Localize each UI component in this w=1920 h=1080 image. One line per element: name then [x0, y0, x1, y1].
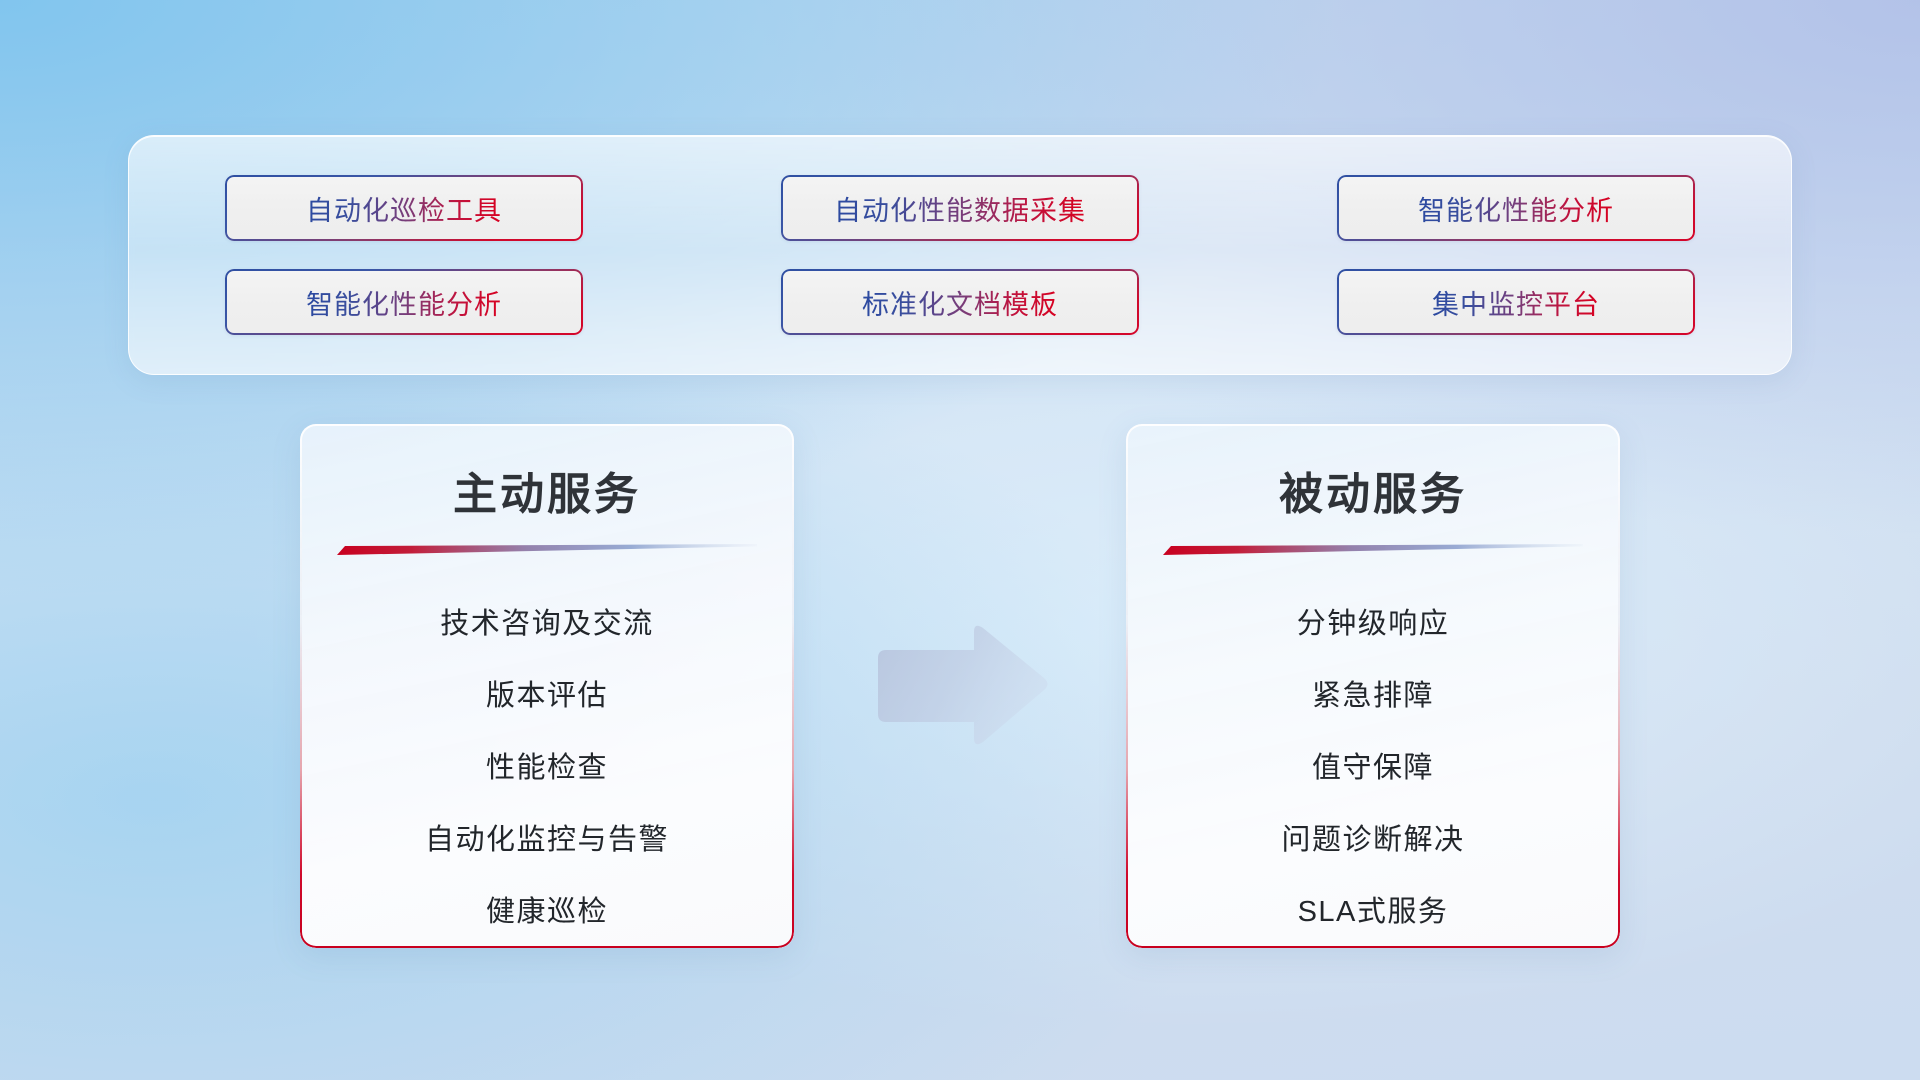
capability-row-1: 自动化巡检工具 自动化性能数据采集 智能化性能分析 [225, 175, 1695, 241]
list-item[interactable]: 技术咨询及交流 [300, 585, 794, 657]
slide-canvas: 自动化巡检工具 自动化性能数据采集 智能化性能分析 智能化性能分析 标准化文档模… [0, 0, 1920, 1080]
capability-pill[interactable]: 智能化性能分析 [1337, 175, 1695, 241]
capability-pill[interactable]: 集中监控平台 [1337, 269, 1695, 335]
list-item[interactable]: 版本评估 [300, 657, 794, 729]
capability-row-2: 智能化性能分析 标准化文档模板 集中监控平台 [225, 269, 1695, 335]
list-item[interactable]: 健康巡检 [300, 873, 794, 945]
list-item[interactable]: 分钟级响应 [1126, 585, 1620, 657]
capability-pill-label: 自动化巡检工具 [306, 189, 502, 228]
capability-pill-label: 自动化性能数据采集 [834, 189, 1086, 228]
list-item[interactable]: 紧急排障 [1126, 657, 1620, 729]
card-title: 被动服务 [1126, 458, 1620, 522]
flow-arrow-container [794, 424, 1126, 948]
service-cards: 主动服务 技术咨询及交流 [0, 424, 1920, 948]
arrow-right-icon [870, 622, 1050, 750]
card-title-underline [1163, 544, 1583, 555]
capability-pill[interactable]: 自动化巡检工具 [225, 175, 583, 241]
card-item-list: 分钟级响应 紧急排障 值守保障 问题诊断解决 SLA式服务 [1126, 585, 1620, 945]
card-item-list: 技术咨询及交流 版本评估 性能检查 自动化监控与告警 健康巡检 [300, 585, 794, 945]
card-title: 主动服务 [300, 458, 794, 522]
service-card-proactive[interactable]: 主动服务 技术咨询及交流 [300, 424, 794, 948]
list-item[interactable]: 问题诊断解决 [1126, 801, 1620, 873]
capability-pill-label: 集中监控平台 [1432, 283, 1600, 322]
capabilities-panel: 自动化巡检工具 自动化性能数据采集 智能化性能分析 智能化性能分析 标准化文档模… [128, 135, 1792, 375]
capability-pill-label: 智能化性能分析 [1418, 189, 1614, 228]
card-title-underline [337, 544, 757, 555]
list-item[interactable]: 性能检查 [300, 729, 794, 801]
capability-pill[interactable]: 标准化文档模板 [781, 269, 1139, 335]
capability-pill[interactable]: 自动化性能数据采集 [781, 175, 1139, 241]
capability-pill-label: 标准化文档模板 [862, 283, 1058, 322]
list-item[interactable]: 值守保障 [1126, 729, 1620, 801]
list-item[interactable]: 自动化监控与告警 [300, 801, 794, 873]
capability-pill[interactable]: 智能化性能分析 [225, 269, 583, 335]
service-card-reactive[interactable]: 被动服务 分钟级响应 [1126, 424, 1620, 948]
capability-pill-label: 智能化性能分析 [306, 283, 502, 322]
list-item[interactable]: SLA式服务 [1126, 873, 1620, 945]
